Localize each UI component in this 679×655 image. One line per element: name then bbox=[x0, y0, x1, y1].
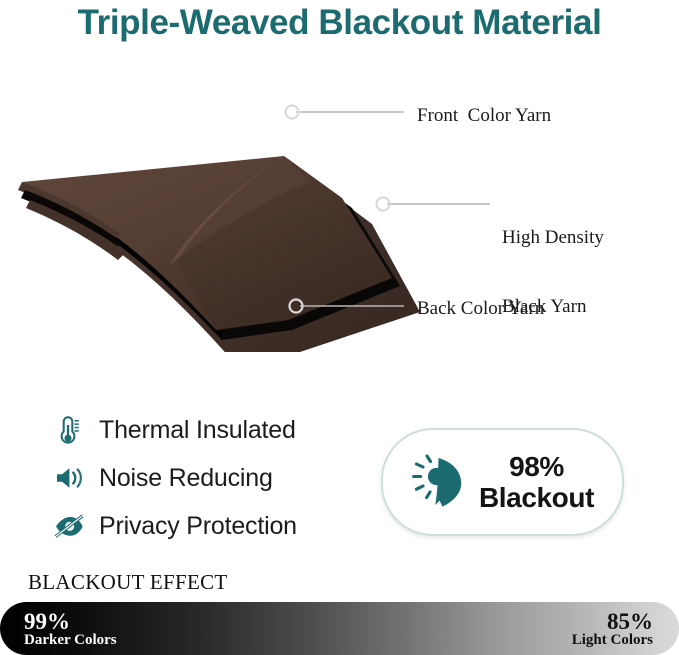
page-title: Triple-Weaved Blackout Material bbox=[0, 0, 679, 46]
blackout-label: Blackout bbox=[479, 482, 594, 513]
blackout-percent: 98% bbox=[479, 451, 594, 482]
feature-list: Thermal Insulated Noise Reducing Privacy… bbox=[52, 408, 352, 552]
thermometer-icon bbox=[52, 414, 86, 446]
label-back-color-yarn: Back Color Yarn bbox=[417, 297, 544, 320]
eye-slash-icon bbox=[52, 510, 86, 542]
blackout-effect-heading: BLACKOUT EFFECT bbox=[28, 570, 228, 595]
blackout-effect-bar: 99% Darker Colors 85% Light Colors bbox=[0, 602, 679, 655]
feature-label-noise: Noise Reducing bbox=[99, 464, 273, 493]
label-high-density-line1: High Density bbox=[502, 226, 604, 249]
leader-line-black bbox=[377, 198, 491, 211]
darker-percent: 99% bbox=[24, 610, 117, 633]
feature-noise-reducing: Noise Reducing bbox=[52, 456, 352, 500]
speaker-sound-icon bbox=[52, 462, 86, 494]
blackout-effect-light: 85% Light Colors bbox=[572, 610, 653, 649]
blackout-effect-darker: 99% Darker Colors bbox=[24, 610, 117, 649]
light-caption: Light Colors bbox=[572, 633, 653, 648]
leader-line-front bbox=[286, 106, 405, 119]
light-percent: 85% bbox=[572, 610, 653, 633]
sun-behind-curtain-icon bbox=[411, 451, 473, 513]
blackout-badge-text: 98% Blackout bbox=[479, 451, 594, 513]
feature-label-thermal: Thermal Insulated bbox=[99, 416, 296, 445]
blackout-badge: 98% Blackout bbox=[381, 428, 624, 536]
feature-label-privacy: Privacy Protection bbox=[99, 512, 297, 541]
feature-thermal-insulated: Thermal Insulated bbox=[52, 408, 352, 452]
label-front-color-yarn: Front Color Yarn bbox=[417, 104, 551, 127]
darker-caption: Darker Colors bbox=[24, 633, 117, 648]
feature-privacy-protection: Privacy Protection bbox=[52, 504, 352, 548]
